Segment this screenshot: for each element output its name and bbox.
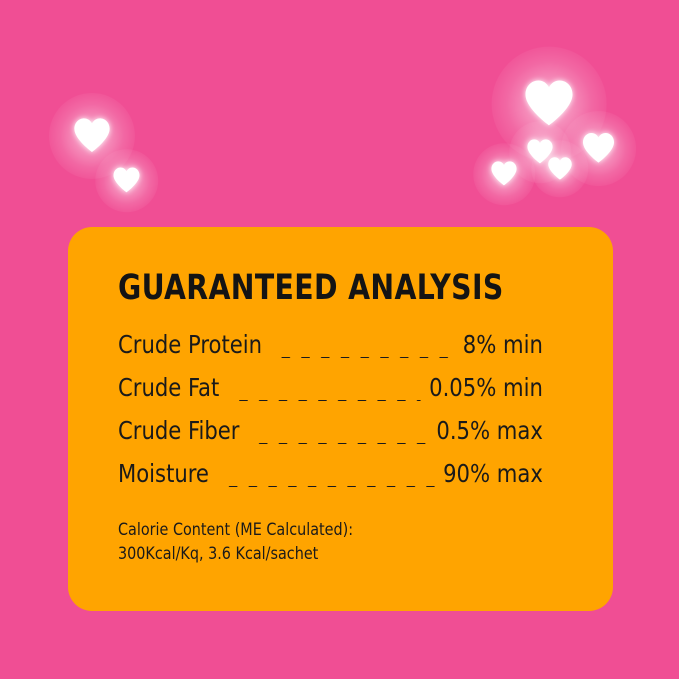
- calorie-content-block: Calorie Content (ME Calculated): 300Kcal…: [118, 518, 583, 566]
- dot-leader: [248, 443, 428, 444]
- heart-left-large-icon: [71, 115, 113, 157]
- nutrient-label: Crude Fat: [118, 373, 219, 402]
- poster-canvas: GUARANTEED ANALYSIS Crude Protein8% minC…: [0, 0, 679, 679]
- heart-shape: [71, 115, 113, 157]
- heart-shape: [489, 159, 519, 189]
- table-row: Moisture90% max: [118, 459, 543, 502]
- heart-shape: [521, 76, 577, 132]
- heart-left-small-icon: [111, 165, 142, 196]
- heart-shape: [111, 165, 142, 196]
- heart-right-small-left-icon: [489, 159, 519, 189]
- dot-leader: [228, 400, 421, 401]
- dot-leader: [217, 486, 434, 487]
- heart-right-small-lower-icon: [546, 155, 574, 183]
- analysis-table: Crude Protein8% minCrude Fat0.05% minCru…: [118, 330, 570, 502]
- table-row: Crude Fiber0.5% max: [118, 416, 543, 459]
- nutrient-value: 90% max: [443, 459, 543, 488]
- heart-shape: [546, 155, 574, 183]
- dot-leader: [270, 357, 454, 358]
- calorie-content-heading: Calorie Content (ME Calculated):: [118, 518, 583, 542]
- heart-right-large-icon: [521, 76, 577, 132]
- nutrient-label: Crude Protein: [118, 330, 262, 359]
- table-row: Crude Fat0.05% min: [118, 373, 543, 416]
- heart-shape: [580, 130, 617, 167]
- page-title: GUARANTEED ANALYSIS: [118, 271, 564, 306]
- nutrient-label: Moisture: [118, 459, 209, 488]
- nutrient-value: 0.5% max: [436, 416, 542, 445]
- nutrient-value: 0.05% min: [429, 373, 543, 402]
- table-row: Crude Protein8% min: [118, 330, 543, 373]
- nutrient-label: Crude Fiber: [118, 416, 239, 445]
- nutrient-value: 8% min: [463, 330, 543, 359]
- calorie-content-value: 300Kcal/Kq, 3.6 Kcal/sachet: [118, 542, 583, 566]
- heart-right-mid-icon: [580, 130, 617, 167]
- guaranteed-analysis-card: GUARANTEED ANALYSIS Crude Protein8% minC…: [68, 227, 613, 611]
